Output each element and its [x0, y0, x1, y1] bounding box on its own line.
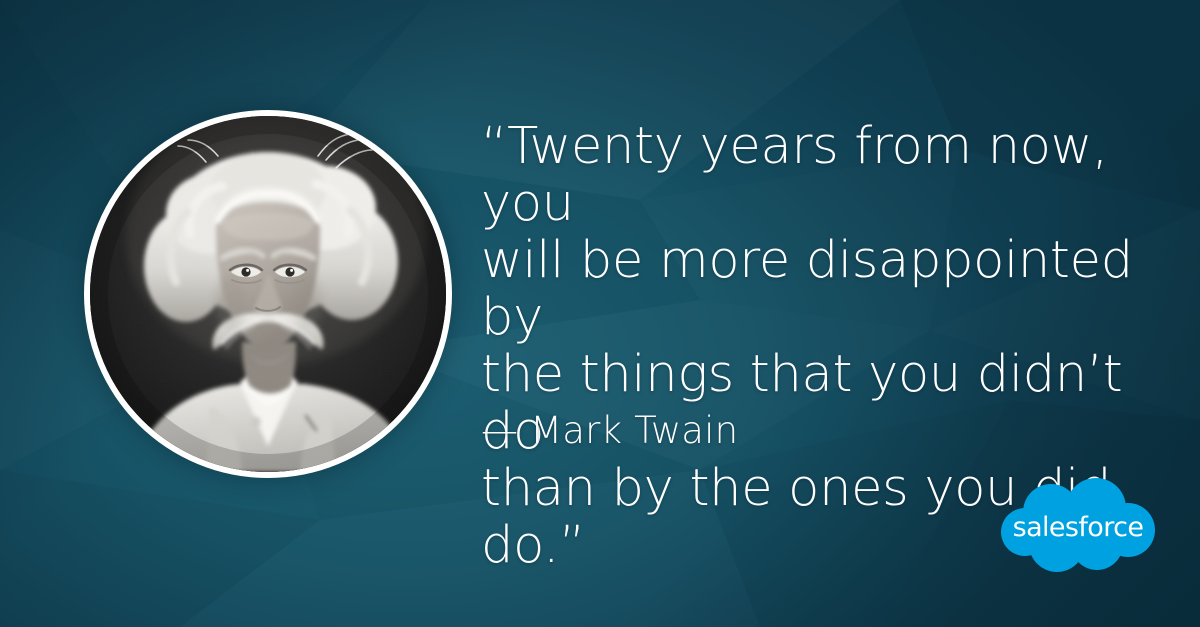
quote-attribution: — Mark Twain: [481, 409, 738, 453]
author-portrait: [84, 110, 452, 478]
salesforce-logo[interactable]: salesforce: [997, 478, 1159, 574]
author-portrait-image: [90, 116, 446, 472]
quote-card: “Twenty years from now, you will be more…: [0, 0, 1200, 627]
cloud-icon: [997, 478, 1159, 574]
